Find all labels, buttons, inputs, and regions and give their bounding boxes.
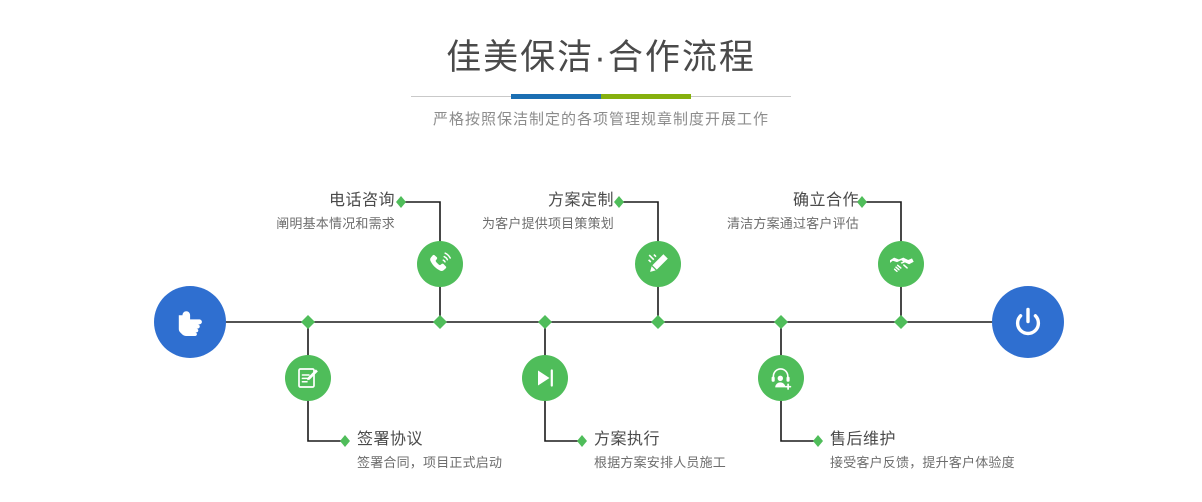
step-3-icon-bubble[interactable] xyxy=(635,241,681,287)
step-5-icon-bubble[interactable] xyxy=(878,241,924,287)
flow-connectors xyxy=(0,0,1202,502)
step-6-title: 售后维护 xyxy=(830,429,1015,450)
handshake-icon xyxy=(886,249,916,279)
step-5-title: 确立合作 xyxy=(727,190,859,211)
step-1-label: 电话咨询 阐明基本情况和需求 xyxy=(276,190,395,234)
step-3-title: 方案定制 xyxy=(482,190,614,211)
label-diamond-step-1 xyxy=(396,196,406,208)
step-2-icon-bubble[interactable] xyxy=(285,355,331,401)
step-1-desc: 阐明基本情况和需求 xyxy=(276,214,395,234)
pencil-ruler-icon xyxy=(644,250,672,278)
node-diamond-step-2 xyxy=(301,315,315,329)
step-3-desc: 为客户提供项目策策划 xyxy=(482,214,614,234)
step-5-desc: 清洁方案通过客户评估 xyxy=(727,214,859,234)
flow-start-endpoint[interactable] xyxy=(154,286,226,358)
step-4-desc: 根据方案安排人员施工 xyxy=(594,453,726,473)
label-diamond-step-2 xyxy=(340,435,350,447)
flow-end-endpoint[interactable] xyxy=(992,286,1064,358)
power-icon xyxy=(1008,302,1048,342)
label-diamond-step-4 xyxy=(577,435,587,447)
phone-call-icon xyxy=(426,250,454,278)
step-2-title: 签署协议 xyxy=(357,429,502,450)
node-diamond-step-6 xyxy=(774,315,788,329)
step-6-desc: 接受客户反馈，提升客户体验度 xyxy=(830,453,1015,473)
node-diamond-step-5 xyxy=(894,315,908,329)
flow-diagram-page: 佳美保洁·合作流程 严格按照保洁制定的各项管理规章制度开展工作 xyxy=(0,0,1202,502)
customer-service-icon xyxy=(767,364,795,392)
step-1-title: 电话咨询 xyxy=(276,190,395,211)
node-diamond-step-1 xyxy=(433,315,447,329)
document-edit-icon xyxy=(294,364,322,392)
step-4-icon-bubble[interactable] xyxy=(522,355,568,401)
label-diamond-step-6 xyxy=(813,435,823,447)
step-3-label: 方案定制 为客户提供项目策策划 xyxy=(482,190,614,234)
step-6-label: 售后维护 接受客户反馈，提升客户体验度 xyxy=(830,429,1015,473)
step-2-label: 签署协议 签署合同，项目正式启动 xyxy=(357,429,502,473)
step-4-label: 方案执行 根据方案安排人员施工 xyxy=(594,429,726,473)
play-execute-icon xyxy=(531,364,559,392)
step-5-label: 确立合作 清洁方案通过客户评估 xyxy=(727,190,859,234)
node-diamond-step-4 xyxy=(538,315,552,329)
step-4-title: 方案执行 xyxy=(594,429,726,450)
label-diamond-step-3 xyxy=(614,196,624,208)
step-6-icon-bubble[interactable] xyxy=(758,355,804,401)
process-flow: 电话咨询 阐明基本情况和需求 签署协议 签署合同，项目正式启动 xyxy=(0,0,1202,502)
step-1-icon-bubble[interactable] xyxy=(417,241,463,287)
pointing-hand-icon xyxy=(170,302,210,342)
step-2-desc: 签署合同，项目正式启动 xyxy=(357,453,502,473)
node-diamond-step-3 xyxy=(651,315,665,329)
